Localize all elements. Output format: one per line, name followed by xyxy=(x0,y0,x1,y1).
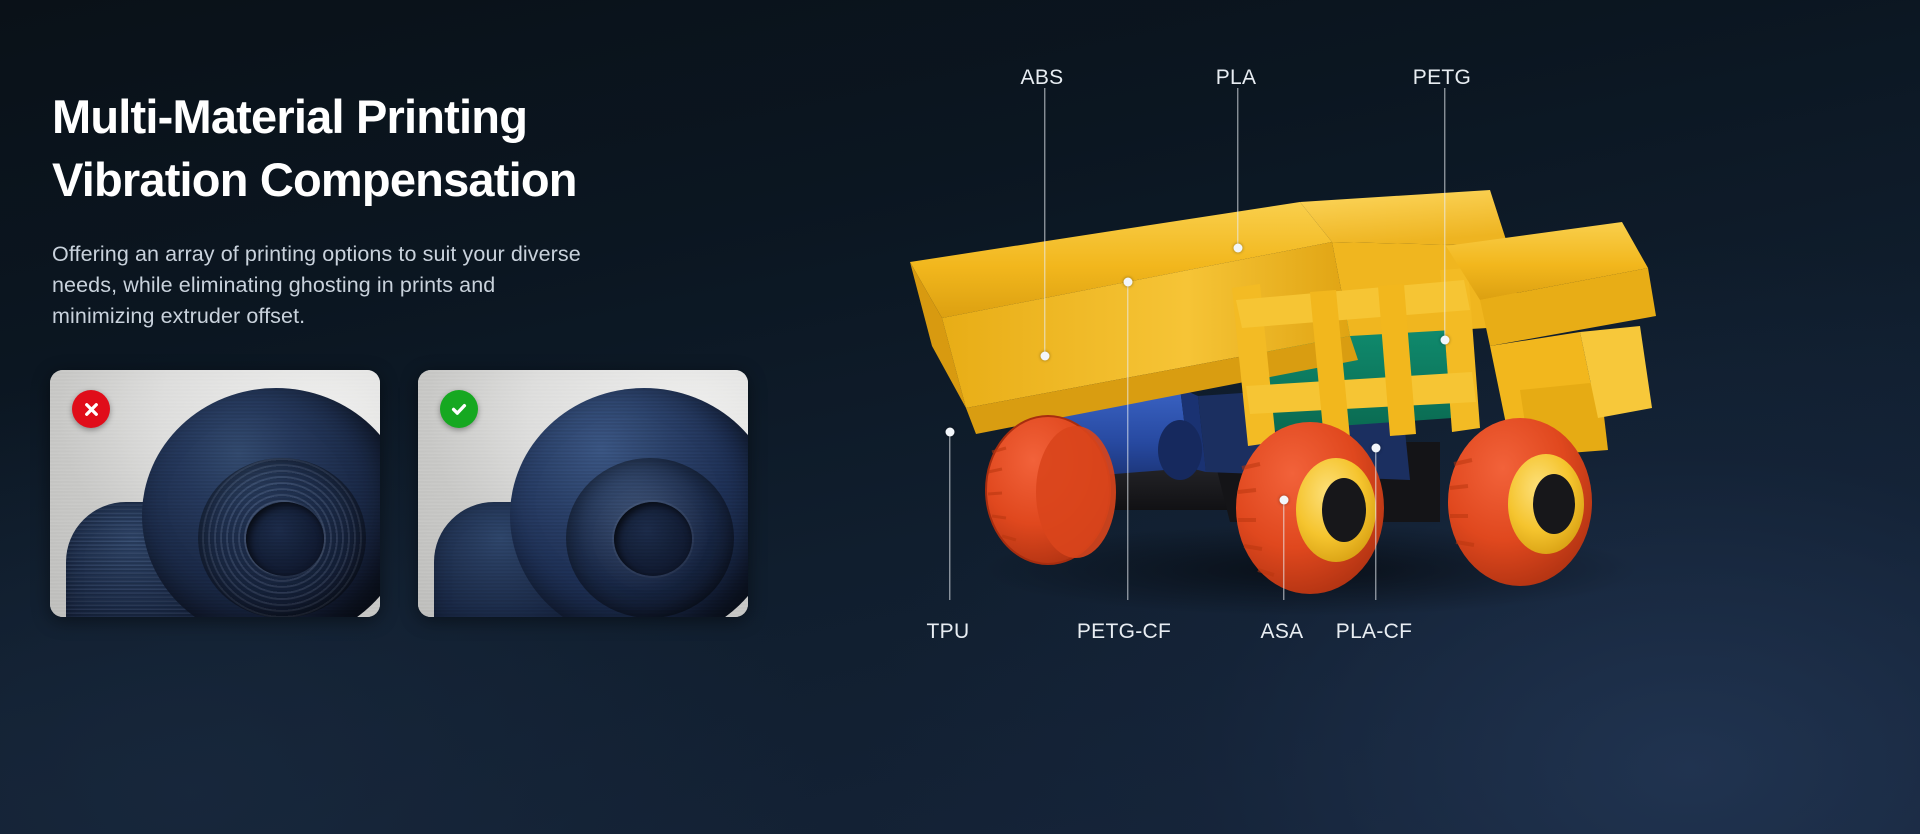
callout-leader-pla xyxy=(1237,88,1238,248)
comparison-card-ghosting xyxy=(50,370,380,617)
callout-label-tpu: TPU xyxy=(927,620,970,644)
callout-label-pla: PLA xyxy=(1216,66,1257,90)
wheel-axle xyxy=(1322,478,1366,542)
comparison-card-clean xyxy=(418,370,748,617)
callout-leader-pla-cf xyxy=(1375,448,1376,600)
tire-front-right xyxy=(1448,418,1592,586)
print-center-hole xyxy=(614,502,692,576)
callout-dot-tpu xyxy=(946,428,955,437)
tire-mid xyxy=(1236,422,1384,594)
callout-dot-petg xyxy=(1441,336,1450,345)
callout-label-pla-cf: PLA-CF xyxy=(1336,620,1412,644)
callout-dot-asa xyxy=(1280,496,1289,505)
callout-label-abs: ABS xyxy=(1021,66,1064,90)
cab-wheel-arch xyxy=(1158,420,1202,480)
check-icon xyxy=(440,390,478,428)
callout-label-petg-cf: PETG-CF xyxy=(1077,620,1171,644)
callout-leader-tpu xyxy=(949,432,950,600)
page-title-line-2: Vibration Compensation xyxy=(52,149,812,212)
wheel-axle xyxy=(1533,474,1575,534)
bed-interior xyxy=(1300,190,1508,246)
callout-leader-petg xyxy=(1444,88,1445,340)
subtitle-line-2: needs, while eliminating ghosting in pri… xyxy=(52,270,812,301)
callout-leader-abs xyxy=(1044,88,1045,356)
callout-leader-petg-cf xyxy=(1127,282,1128,600)
callout-dot-pla-cf xyxy=(1372,444,1381,453)
comparison-gallery xyxy=(50,370,748,617)
page-subtitle: Offering an array of printing options to… xyxy=(52,239,812,333)
page-title: Multi-Material Printing Vibration Compen… xyxy=(52,86,812,211)
subtitle-line-1: Offering an array of printing options to… xyxy=(52,239,812,270)
material-showcase: ABS PLA PETG TPU PETG-CF ASA PLA-CF xyxy=(860,0,1920,834)
tire-rear-left xyxy=(986,416,1116,564)
3d-printed-dump-truck xyxy=(880,150,1720,620)
text-panel: Multi-Material Printing Vibration Compen… xyxy=(52,86,812,333)
page-title-line-1: Multi-Material Printing xyxy=(52,86,812,149)
callout-dot-pla xyxy=(1234,244,1243,253)
cross-icon xyxy=(72,390,110,428)
promo-banner: Multi-Material Printing Vibration Compen… xyxy=(0,0,1920,834)
callout-dot-abs xyxy=(1041,352,1050,361)
print-center-hole xyxy=(246,502,324,576)
subtitle-line-3: minimizing extruder offset. xyxy=(52,301,812,332)
callout-leader-asa xyxy=(1283,500,1284,600)
callout-label-asa: ASA xyxy=(1261,620,1304,644)
callout-label-petg: PETG xyxy=(1413,66,1471,90)
callout-dot-petg-cf xyxy=(1124,278,1133,287)
